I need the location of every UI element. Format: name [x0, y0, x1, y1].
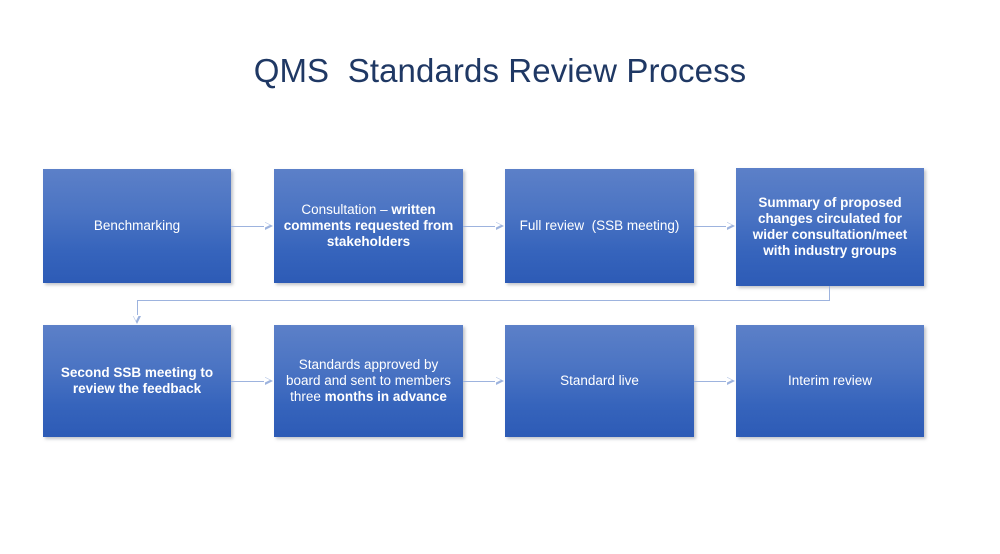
arrow-head-right-icon [727, 222, 735, 230]
process-box-label: Standard live [511, 373, 688, 389]
connector-line [694, 381, 728, 382]
label-regular-segment: Consultation – [301, 202, 391, 217]
connector-line-down [829, 286, 830, 301]
arrow-head-right-icon [496, 377, 504, 385]
connector-line-across [137, 300, 830, 301]
page-title: QMS Standards Review Process [0, 52, 1000, 90]
process-box-interim-review[interactable]: Interim review [736, 325, 924, 437]
process-box-second-ssb-meeting[interactable]: Second SSB meeting to review the feedbac… [43, 325, 231, 437]
connector-line [231, 226, 266, 227]
arrow-head-right-icon [727, 377, 735, 385]
process-box-standards-approved[interactable]: Standards approved by board and sent to … [274, 325, 463, 437]
process-box-summary-circulated[interactable]: Summary of proposed changes circulated f… [736, 168, 924, 286]
arrow-head-right-icon [265, 377, 273, 385]
process-box-label: Benchmarking [49, 218, 225, 234]
connector-line [463, 381, 497, 382]
process-box-benchmarking[interactable]: Benchmarking [43, 169, 231, 283]
process-box-consultation[interactable]: Consultation – written comments requeste… [274, 169, 463, 283]
process-box-label: Consultation – written comments requeste… [280, 202, 457, 250]
label-bold-segment: months in advance [325, 389, 447, 404]
arrow-head-right-icon [496, 222, 504, 230]
arrow-head-down-icon [133, 316, 141, 324]
arrow-head-right-icon [265, 222, 273, 230]
connector-line [694, 226, 728, 227]
connector-line [463, 226, 497, 227]
process-box-label: Full review (SSB meeting) [511, 218, 688, 234]
process-box-standard-live[interactable]: Standard live [505, 325, 694, 437]
process-box-label: Standards approved by board and sent to … [280, 357, 457, 405]
process-box-label: Summary of proposed changes circulated f… [742, 195, 918, 259]
connector-line [231, 381, 266, 382]
process-box-label: Interim review [742, 373, 918, 389]
process-box-label: Second SSB meeting to review the feedbac… [49, 365, 225, 397]
process-box-full-review[interactable]: Full review (SSB meeting) [505, 169, 694, 283]
slide-canvas: QMS Standards Review Process Benchmarkin… [0, 0, 1000, 554]
